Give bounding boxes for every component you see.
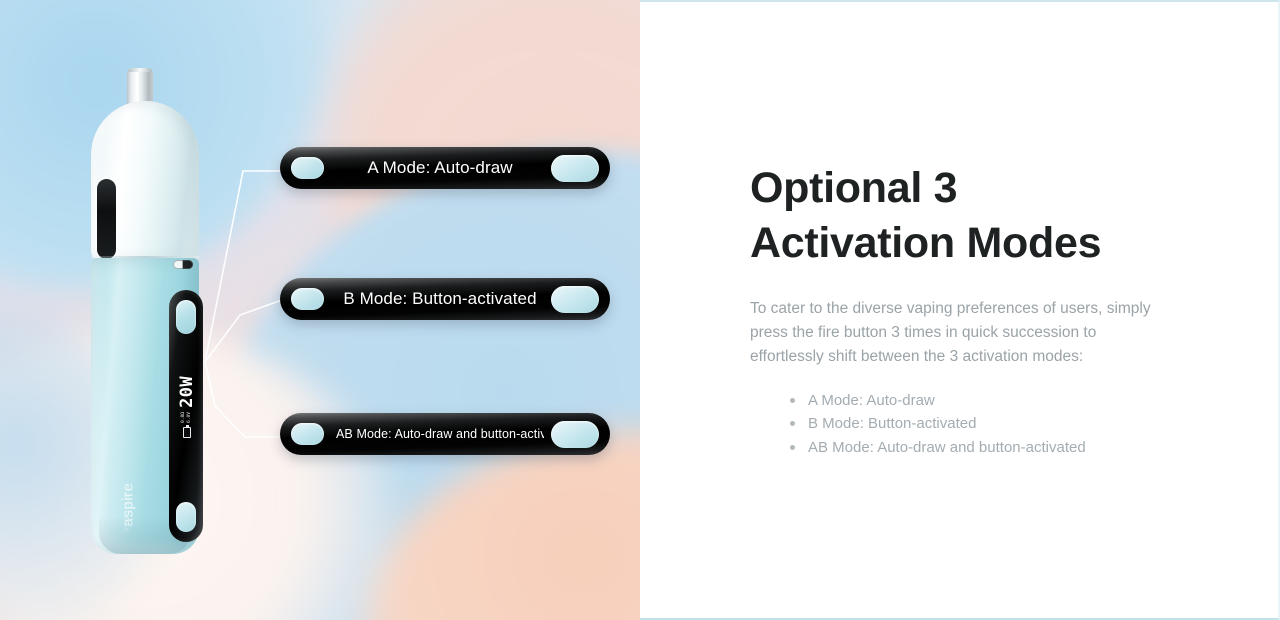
device-pod: [91, 101, 199, 261]
brand-sub-logo: VEO 1 2 3: [125, 478, 131, 548]
page-title-line-2: Activation Modes: [750, 219, 1101, 267]
callout-pill-a-mode[interactable]: A Mode: Auto-draw: [280, 147, 610, 189]
pill-button-left-icon: [291, 288, 324, 310]
pill-button-right-icon: [551, 421, 599, 448]
list-item: AB Mode: Auto-draw and button-activated: [790, 436, 1188, 459]
device-control-strip: 0.8Ω 6.0V 20W: [169, 290, 203, 542]
display-wattage: 20W: [177, 376, 197, 408]
battery-icon: [183, 427, 191, 438]
pill-button-left-icon: [291, 423, 324, 445]
product-feature-slide: aspire VEO 1 2 3 0.8Ω 6.0V 20W: [0, 0, 1280, 620]
pill-button-left-icon: [291, 157, 324, 179]
pill-button-right-icon: [551, 286, 599, 313]
product-image-panel: aspire VEO 1 2 3 0.8Ω 6.0V 20W: [0, 0, 640, 620]
airflow-indicator-icon: [173, 260, 193, 269]
device-pod-window: [97, 179, 116, 259]
page-title-line-1: Optional 3: [750, 164, 957, 212]
device-fire-button[interactable]: [176, 300, 196, 334]
callout-label-a-mode: A Mode: Auto-draw: [336, 158, 544, 178]
callout-pill-b-mode[interactable]: B Mode: Button-activated: [280, 278, 610, 320]
list-item: B Mode: Button-activated: [790, 412, 1188, 435]
callout-label-b-mode: B Mode: Button-activated: [336, 289, 544, 309]
callout-label-ab-mode: AB Mode: Auto-draw and button-activated: [336, 427, 544, 441]
page-title: Optional 3 Activation Modes: [750, 161, 1170, 271]
description-paragraph: To cater to the diverse vaping preferenc…: [750, 297, 1170, 369]
display-voltage: 6.0V: [187, 412, 193, 423]
description-panel: Optional 3 Activation Modes To cater to …: [640, 0, 1280, 620]
vape-device: aspire VEO 1 2 3 0.8Ω 6.0V 20W: [85, 68, 205, 556]
activation-mode-list: A Mode: Auto-draw B Mode: Button-activat…: [750, 389, 1188, 459]
device-display: 0.8Ω 6.0V 20W: [170, 347, 204, 467]
device-adjust-button[interactable]: [176, 502, 196, 532]
device-display-secondary: 0.8Ω 6.0V: [181, 412, 192, 423]
list-item: A Mode: Auto-draw: [790, 389, 1188, 412]
callout-pill-ab-mode[interactable]: AB Mode: Auto-draw and button-activated: [280, 413, 610, 455]
pill-button-right-icon: [551, 155, 599, 182]
